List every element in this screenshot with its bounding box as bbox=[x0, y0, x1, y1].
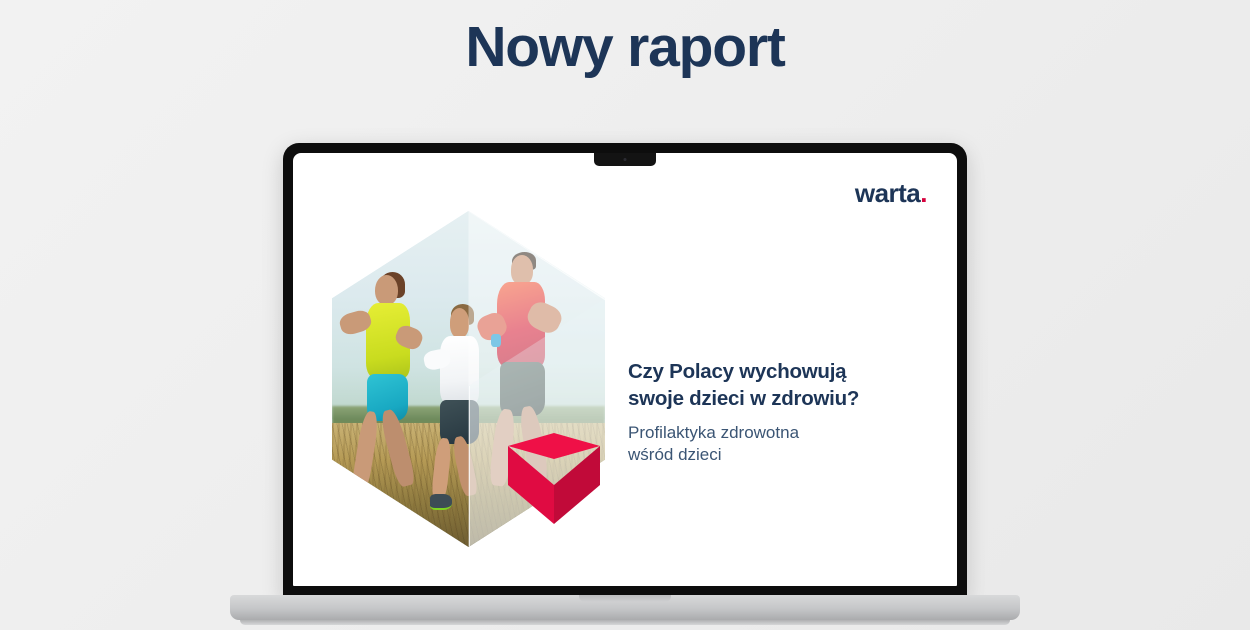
slide-subtitle-line-2: wśród dzieci bbox=[628, 444, 928, 466]
boy-white-shirt bbox=[440, 336, 479, 405]
slide-heading-line-2: swoje dzieci w zdrowiu? bbox=[628, 385, 928, 412]
boy-front-leg bbox=[431, 437, 452, 501]
slide-subtitle: Profilaktyka zdrowotna wśród dzieci bbox=[628, 422, 928, 467]
laptop-foot bbox=[240, 620, 1010, 625]
camera-notch-icon bbox=[594, 153, 656, 166]
man-head bbox=[511, 255, 534, 285]
slide-text-block: Czy Polacy wychowują swoje dzieci w zdro… bbox=[628, 358, 928, 467]
presentation-slide: warta. bbox=[293, 153, 957, 586]
isometric-edge-vertical bbox=[469, 386, 470, 547]
laptop-device: warta. bbox=[230, 143, 1020, 630]
warta-logo-text: warta bbox=[855, 178, 920, 208]
page-title: Nowy raport bbox=[0, 16, 1250, 79]
woman-back-leg bbox=[378, 408, 416, 488]
woman-head bbox=[375, 275, 398, 306]
boy-head bbox=[450, 308, 470, 337]
red-isometric-cube bbox=[508, 433, 600, 537]
woman-shoe bbox=[352, 484, 376, 503]
camera-lens-icon bbox=[624, 158, 627, 161]
cube-right-face bbox=[554, 446, 600, 524]
laptop-base-notch bbox=[579, 595, 671, 602]
warta-logo-dot: . bbox=[920, 178, 927, 208]
slide-heading: Czy Polacy wychowują swoje dzieci w zdro… bbox=[628, 358, 928, 413]
laptop-base bbox=[230, 595, 1020, 620]
slide-subtitle-line-1: Profilaktyka zdrowotna bbox=[628, 422, 928, 444]
warta-logo: warta. bbox=[855, 180, 927, 206]
hexagon-photo bbox=[332, 211, 605, 547]
slide-heading-line-1: Czy Polacy wychowują bbox=[628, 358, 928, 385]
laptop-lid: warta. bbox=[283, 143, 967, 598]
man-sport-watch bbox=[491, 334, 501, 346]
boy-shoe bbox=[430, 494, 452, 511]
woman-front-leg bbox=[351, 410, 381, 492]
boy-back-leg bbox=[451, 435, 479, 497]
cube-left-face bbox=[508, 446, 554, 524]
laptop-screen: warta. bbox=[293, 153, 957, 586]
